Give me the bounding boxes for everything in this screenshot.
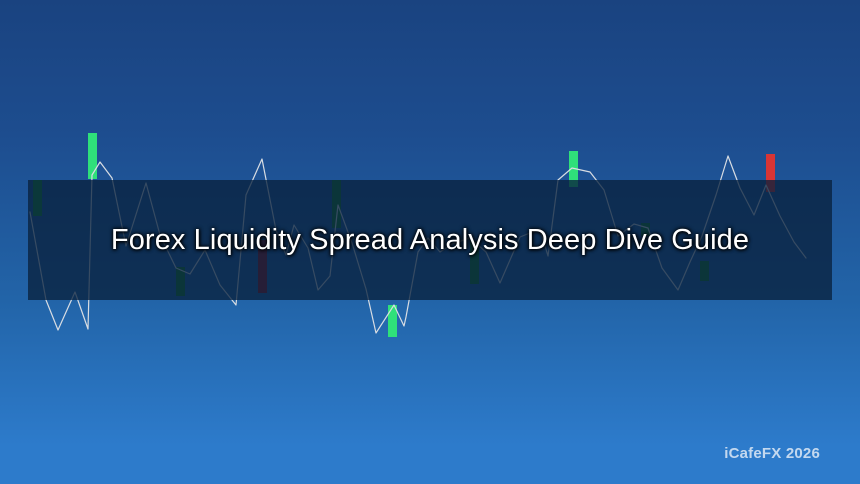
page-title: Forex Liquidity Spread Analysis Deep Div… [28, 180, 832, 300]
watermark-label: iCafeFX 2026 [724, 445, 820, 462]
promo-banner-canvas: Forex Liquidity Spread Analysis Deep Div… [0, 0, 860, 484]
candlestick-body [88, 133, 97, 179]
